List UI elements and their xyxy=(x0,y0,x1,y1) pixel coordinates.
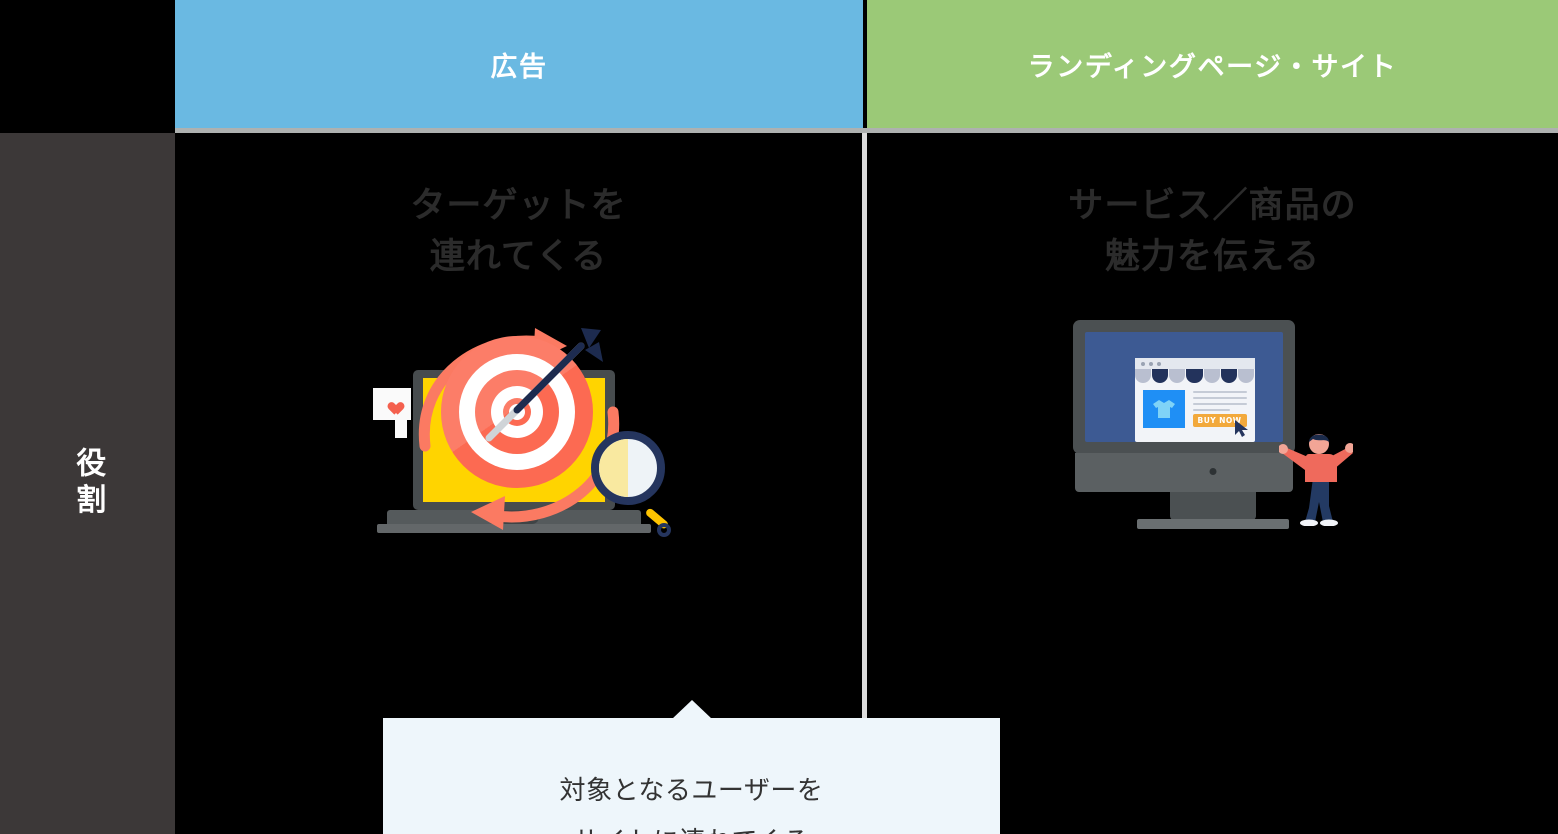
header-cell-ad: 広告 xyxy=(175,0,863,128)
magnifier-icon xyxy=(591,431,665,505)
heart-speech-bubble-icon xyxy=(373,388,411,420)
description-line xyxy=(1193,391,1247,393)
monitor-ecommerce-person-illustration: BUY NOW xyxy=(1073,320,1353,532)
laptop-target-arrow-illustration xyxy=(369,318,669,533)
awning-scallop xyxy=(1186,369,1202,383)
column-headline-ad: ターゲットを 連れてくる xyxy=(175,181,862,283)
monitor-frame-icon: BUY NOW xyxy=(1073,320,1295,454)
monitor-screen-icon: BUY NOW xyxy=(1085,332,1283,442)
heart-icon xyxy=(385,397,400,411)
header-label-ad: 広告 xyxy=(490,45,547,84)
row-label-role-text: 役割 xyxy=(69,447,107,520)
magnifier-knob xyxy=(657,523,671,537)
row-label-role: 役割 xyxy=(0,133,175,834)
shop-awning-icon xyxy=(1135,369,1255,383)
awning-scallop xyxy=(1204,369,1220,383)
illustration-stage-ad xyxy=(175,318,862,548)
description-line xyxy=(1193,403,1247,405)
browser-dot-1 xyxy=(1141,362,1145,366)
site-browser-bar xyxy=(1135,358,1255,369)
header-corner-cell xyxy=(0,0,175,128)
awning-scallop xyxy=(1221,369,1237,383)
ecommerce-site-mock: BUY NOW xyxy=(1135,358,1255,442)
monitor-foot xyxy=(1137,519,1289,529)
column-ad: ターゲットを 連れてくる xyxy=(175,133,862,834)
description-line xyxy=(1193,409,1231,411)
awning-scallop xyxy=(1152,369,1168,383)
illustration-stage-landing-page: BUY NOW xyxy=(867,318,1558,548)
callout-notch-ad xyxy=(672,700,712,719)
awning-scallop xyxy=(1135,369,1151,383)
monitor-stand xyxy=(1170,492,1256,520)
browser-dot-3 xyxy=(1157,362,1161,366)
tshirt-icon xyxy=(1151,400,1177,418)
speech-bubble-tail xyxy=(395,420,407,438)
magnifier-lens-fill xyxy=(599,439,628,497)
product-description-lines xyxy=(1193,391,1247,415)
awning-scallop xyxy=(1169,369,1185,383)
monitor-chin xyxy=(1075,453,1293,492)
person-icon xyxy=(1279,430,1353,526)
arrow-icon xyxy=(477,320,607,450)
product-thumbnail xyxy=(1143,390,1185,428)
monitor-power-dot xyxy=(1209,468,1216,475)
browser-dot-2 xyxy=(1149,362,1153,366)
header-cell-landing-page: ランディングページ・サイト xyxy=(867,0,1558,128)
callout-text-ad: 対象となるユーザーを サイトに連れてくる までが役割 xyxy=(560,766,824,834)
column-headline-landing-page: サービス／商品の 魅力を伝える xyxy=(867,181,1558,283)
cursor-icon xyxy=(1235,420,1248,437)
header-label-landing-page: ランディングページ・サイト xyxy=(1028,45,1398,84)
awning-scallop xyxy=(1238,369,1254,383)
column-landing-page: サービス／商品の 魅力を伝える xyxy=(867,133,1558,834)
comparison-table: 広告 ランディングページ・サイト 役割 ターゲットを 連れてくる xyxy=(0,0,1558,834)
description-line xyxy=(1193,397,1247,399)
